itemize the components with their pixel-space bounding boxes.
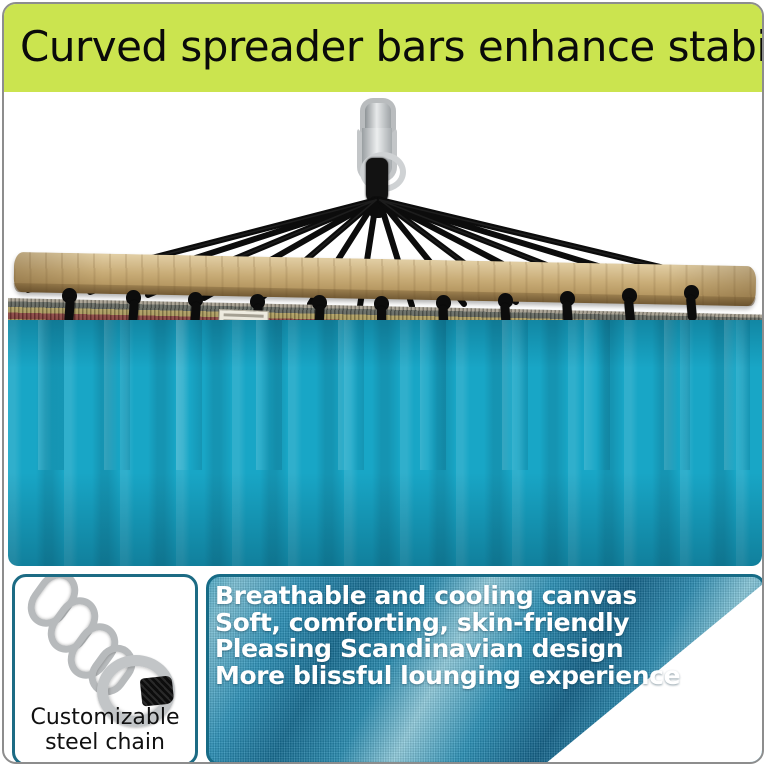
canvas-pleat <box>176 320 202 470</box>
feature-item: More blissful lounging experience <box>215 663 635 690</box>
features-panel: Breathable and cooling canvas Soft, comf… <box>206 574 764 764</box>
feature-item: Pleasing Scandinavian design <box>215 636 635 663</box>
page-title: Curved spreader bars enhance stability <box>20 20 760 74</box>
feature-list: Breathable and cooling canvas Soft, comf… <box>215 583 635 689</box>
canvas-pleat <box>256 320 282 470</box>
inset-caption: Customizable steel chain <box>15 705 195 755</box>
outer-frame: Curved spreader bars enhance stability <box>2 2 764 764</box>
hammock-hero-image <box>8 92 762 566</box>
inset-caption-line-1: Customizable <box>15 705 195 730</box>
chain-illustration <box>15 577 195 709</box>
canvas-pleat <box>338 320 364 470</box>
canvas-pleat <box>502 320 528 470</box>
steel-chain-inset: Customizable steel chain <box>12 574 198 764</box>
feature-item: Soft, comforting, skin-friendly <box>215 610 635 637</box>
canvas-pleat <box>104 320 130 470</box>
rope-wrap <box>140 675 175 706</box>
canvas-pleat <box>38 320 64 470</box>
canvas-pleat <box>420 320 446 470</box>
feature-item: Breathable and cooling canvas <box>215 583 635 610</box>
canvas-pleat <box>584 320 610 470</box>
canvas-pleat <box>724 320 750 470</box>
header-banner: Curved spreader bars enhance stability <box>4 4 762 92</box>
inset-caption-line-2: steel chain <box>15 730 195 755</box>
canvas-pleat <box>664 320 690 470</box>
